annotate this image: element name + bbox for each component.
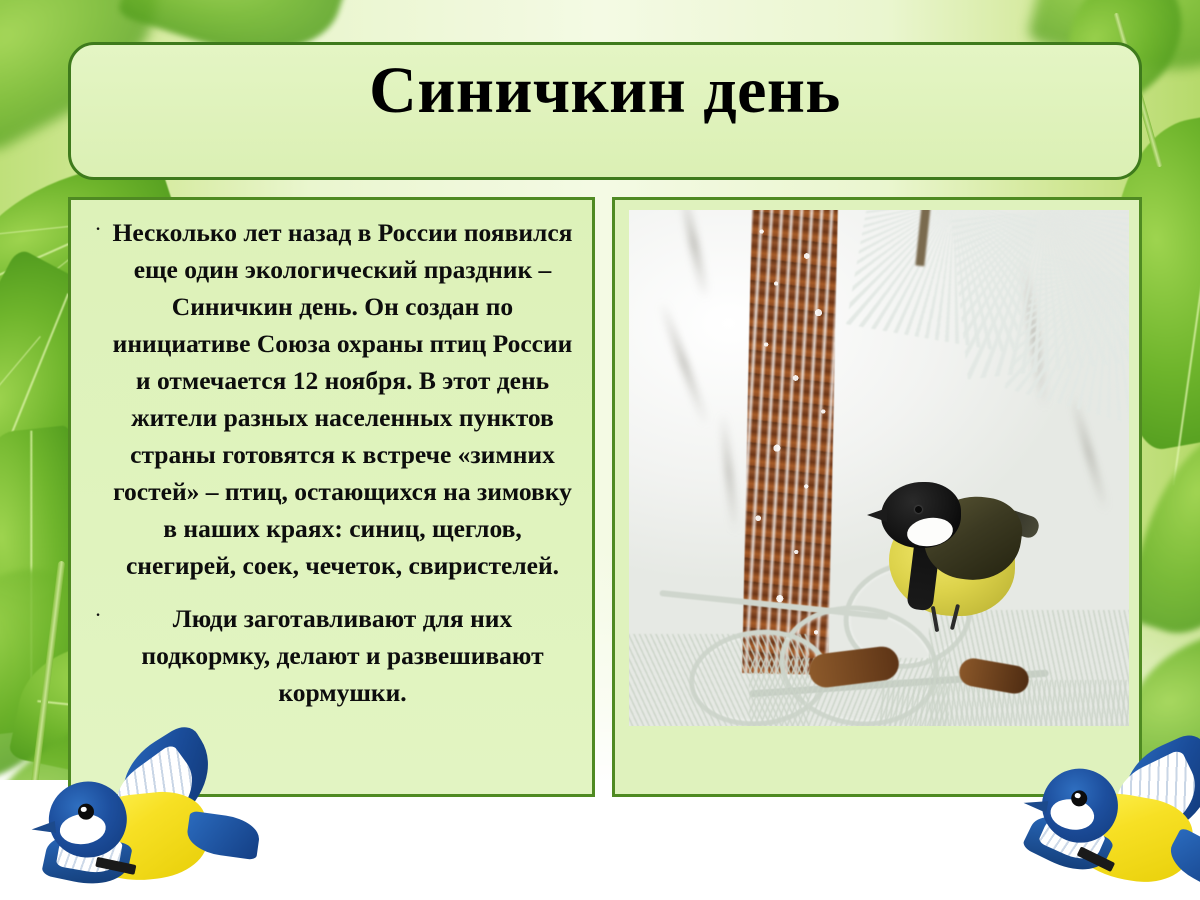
bird-beak <box>31 821 56 835</box>
photo-panel <box>612 197 1142 797</box>
slide-canvas: Синичкин день · Несколько лет назад в Ро… <box>0 0 1200 900</box>
body-text-panel: · Несколько лет назад в России появился … <box>68 197 595 797</box>
paragraph-item: · Несколько лет назад в России появился … <box>87 214 576 584</box>
paragraph-text: Несколько лет назад в России появился ещ… <box>109 214 576 584</box>
paragraph-item: · Люди заготавливают для них подкормку, … <box>87 600 576 711</box>
cartoon-bird-right <box>1011 756 1200 900</box>
bird-head <box>881 482 961 548</box>
bullet-icon: · <box>87 214 109 244</box>
bird-beak <box>867 508 887 522</box>
great-tit-bird <box>867 478 1035 628</box>
paragraph-text: Люди заготавливают для них подкормку, де… <box>109 600 576 711</box>
page-title: Синичкин день <box>71 55 1139 128</box>
cartoon-bird-left <box>30 757 251 898</box>
winter-bird-photo <box>629 210 1129 726</box>
bullet-icon: · <box>87 600 109 630</box>
bird-eye <box>915 506 922 513</box>
title-card: Синичкин день <box>68 42 1142 180</box>
